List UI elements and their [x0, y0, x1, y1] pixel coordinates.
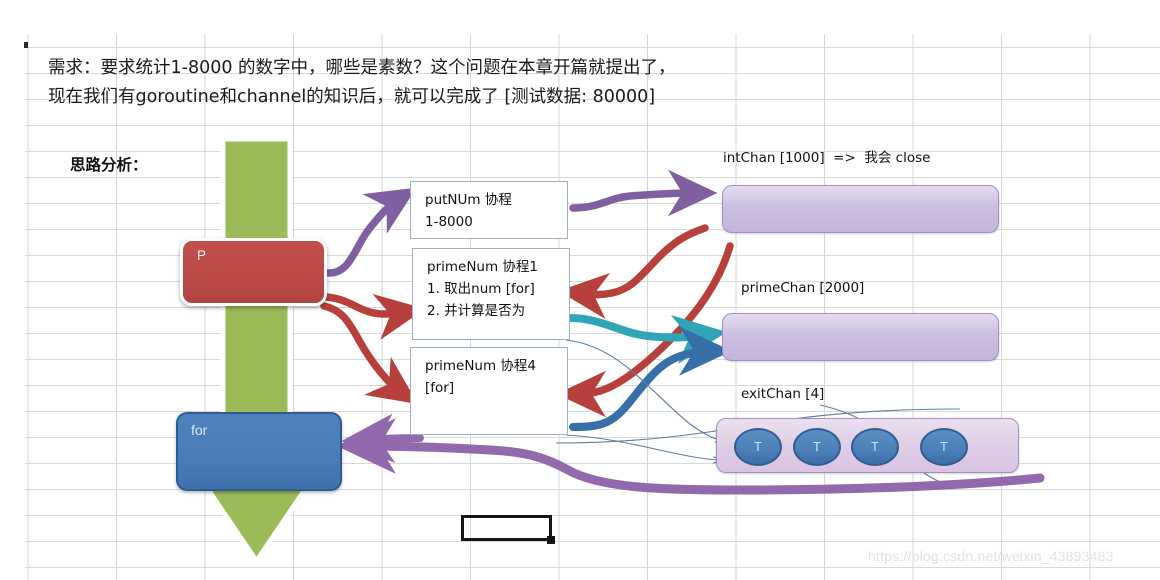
channel-bar-primechan[interactable]	[722, 313, 999, 361]
arrow-p-to-prime1	[326, 297, 406, 314]
channel-bar-intchan[interactable]	[722, 185, 999, 233]
selected-cell[interactable]	[461, 515, 552, 541]
arrow-intchan-to-prime1	[578, 228, 705, 295]
arrow-prime1-to-primechan	[570, 318, 706, 338]
channel-label-intchan: intChan [1000] => 我会 close	[723, 146, 930, 166]
note-box-primenum4[interactable]: primeNum 协程4 [for]	[410, 347, 568, 435]
channel-label-exitchan: exitChan [4]	[741, 386, 824, 402]
arrow-prime4-to-primechan	[573, 351, 711, 427]
exitchan-token-3[interactable]: T	[851, 428, 899, 466]
flow-green-arrow-icon	[213, 139, 358, 564]
diagram-canvas: 需求：要求统计1-8000 的数字中，哪些是素数？这个问题在本章开篇就提出了， …	[0, 0, 1160, 580]
arrow-p-to-putnum	[328, 198, 400, 273]
consumer-for-box-label: for	[191, 422, 207, 438]
note-box-primenum1[interactable]: primeNum 协程1 1. 取出num [for] 2. 并计算是否为	[412, 248, 570, 340]
requirement-line-1: 需求：要求统计1-8000 的数字中，哪些是素数？这个问题在本章开篇就提出了，	[48, 58, 676, 78]
grid-left-margin	[0, 0, 25, 580]
grid-top-margin	[0, 0, 1160, 34]
section-label-idea-analysis: 思路分析：	[70, 153, 148, 175]
arrow-p-to-prime4	[324, 306, 402, 393]
requirement-text: 需求：要求统计1-8000 的数字中，哪些是素数？这个问题在本章开篇就提出了， …	[48, 54, 928, 112]
producer-box-label: P	[197, 248, 206, 263]
requirement-line-2: 现在我们有goroutine和channel的知识后，就可以完成了 [测试数据:…	[48, 87, 655, 107]
exitchan-token-1[interactable]: T	[734, 428, 782, 466]
selection-fill-handle[interactable]	[547, 536, 555, 544]
arrow-putnum-to-intchan	[573, 193, 698, 208]
exitchan-token-4[interactable]: T	[920, 428, 968, 466]
watermark-text: https://blog.csdn.net/weixin_43893483	[868, 548, 1114, 564]
consumer-for-box[interactable]: for	[176, 412, 342, 491]
thin-line-prime1-to-exitchan	[566, 340, 722, 441]
channel-label-primechan: primeChan [2000]	[741, 280, 864, 296]
cell-marker-dot	[24, 42, 28, 48]
thin-line-prime4-to-exitchan	[566, 435, 720, 460]
producer-box[interactable]: P	[180, 238, 327, 306]
exitchan-token-2[interactable]: T	[793, 428, 841, 466]
arrow-intchan-to-prime4	[576, 246, 730, 394]
note-box-putnum[interactable]: putNUm 协程 1-8000	[410, 181, 568, 239]
arrow-primechan-to-for	[362, 438, 420, 440]
